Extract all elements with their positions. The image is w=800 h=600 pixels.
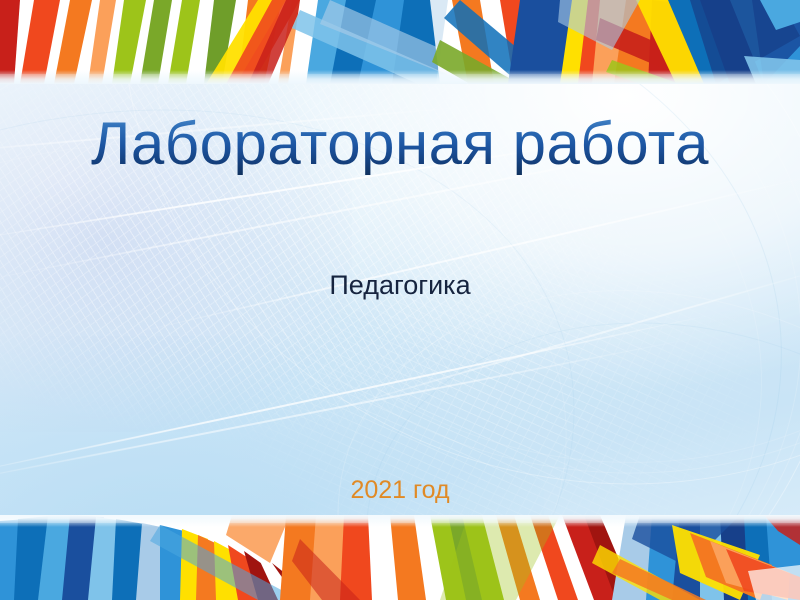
slide-year: 2021 год bbox=[0, 477, 800, 505]
shard-group-bottom-right bbox=[440, 515, 800, 600]
shard-group-right bbox=[508, 0, 800, 84]
presentation-title-slide: Лабораторная работа Педагогика 2021 год bbox=[0, 0, 800, 600]
slide-title: Лабораторная работа bbox=[0, 112, 800, 175]
slide-subtitle: Педагогика bbox=[0, 271, 800, 301]
decorative-band-bottom bbox=[0, 515, 800, 600]
decorative-band-top bbox=[0, 0, 800, 84]
